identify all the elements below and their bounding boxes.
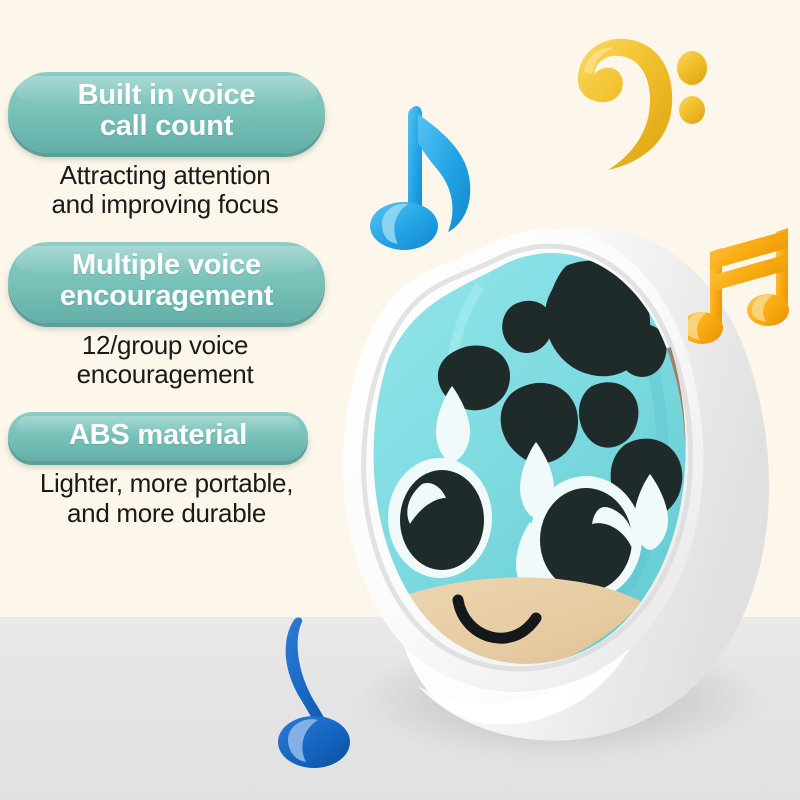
feature-caption-abs-material: Lighter, more portable, and more durable — [0, 469, 339, 528]
caption-line-1: 12/group voice — [0, 331, 330, 361]
pill-line-2: encouragement — [22, 281, 311, 312]
feature-pill-voice-call-count[interactable]: Built in voice call count — [8, 72, 325, 153]
quarter-note-icon — [272, 612, 388, 778]
feature-voice-encouragement: Multiple voice encouragement 12/group vo… — [0, 242, 345, 390]
caption-line-1: Attracting attention — [0, 161, 330, 191]
pill-line-2: call count — [22, 111, 311, 142]
caption-line-2: and improving focus — [0, 190, 330, 220]
caption-line-2: encouragement — [0, 360, 330, 390]
pill-line-1: Multiple voice — [22, 250, 311, 281]
caption-line-1: Lighter, more portable, — [0, 469, 339, 499]
caption-line-2: and more durable — [0, 499, 339, 529]
feature-list: Built in voice call count Attracting att… — [0, 72, 345, 542]
marketing-image-canvas: Built in voice call count Attracting att… — [0, 0, 800, 800]
feature-pill-voice-encouragement[interactable]: Multiple voice encouragement — [8, 242, 325, 323]
feature-caption-voice-encouragement: 12/group voice encouragement — [0, 331, 330, 390]
feature-pill-abs-material[interactable]: ABS material — [8, 412, 308, 461]
pill-line-1: Built in voice — [22, 80, 311, 111]
beamed-sixteenth-notes-icon — [688, 218, 796, 356]
eighth-note-icon — [368, 92, 492, 258]
feature-caption-voice-call-count: Attracting attention and improving focus — [0, 161, 330, 220]
pill-line-1: ABS material — [22, 420, 294, 451]
feature-voice-call-count: Built in voice call count Attracting att… — [0, 72, 345, 220]
feature-abs-material: ABS material Lighter, more portable, and… — [0, 412, 345, 529]
bass-clef-icon — [552, 28, 728, 176]
